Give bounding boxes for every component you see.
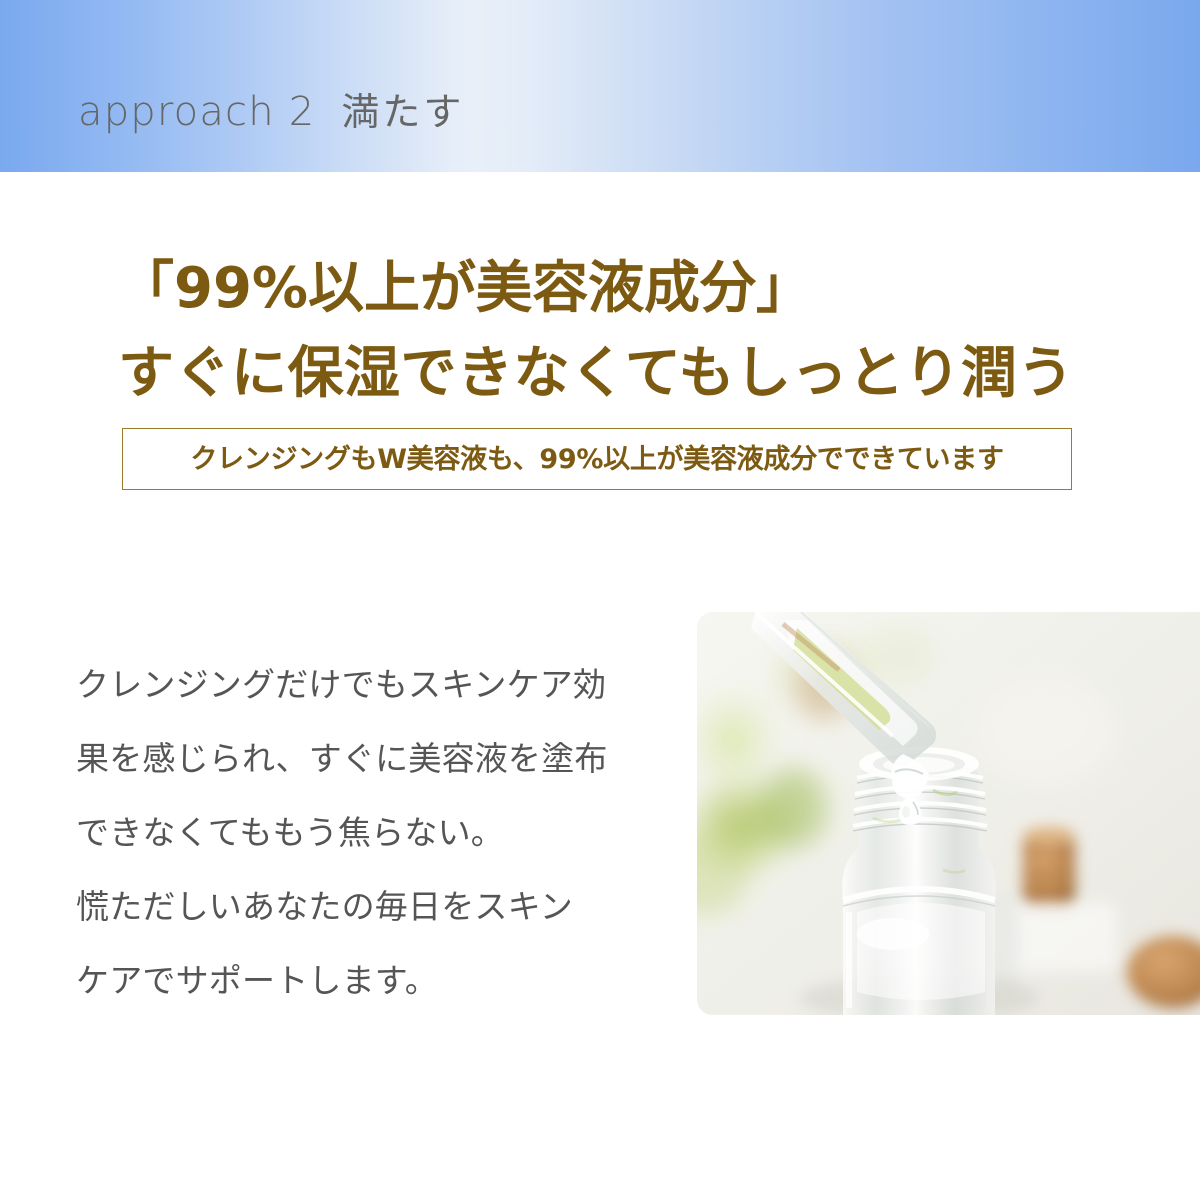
body-copy-line: ケアでサポートします。 <box>76 944 676 1018</box>
page-title-latin: approach 2 <box>78 89 315 135</box>
headline: 「99%以上が美容液成分」 すぐに保湿できなくてもしっとり潤う <box>118 246 1074 416</box>
body-copy: クレンジングだけでもスキンケア効 果を感じられ、すぐに美容液を塗布 できなくても… <box>76 648 676 1018</box>
product-photo-image <box>697 612 1200 1015</box>
body-copy-line: できなくてももう焦らない。 <box>76 796 676 870</box>
headline-line-2: すぐに保湿できなくてもしっとり潤う <box>118 331 1074 416</box>
page-root: approach 2満たす 「99%以上が美容液成分」 すぐに保湿できなくてもし… <box>0 0 1200 1200</box>
subtitle-box: クレンジングもW美容液も、99%以上が美容液成分でできています <box>122 428 1072 490</box>
header-band: approach 2満たす <box>0 0 1200 172</box>
body-copy-line: 慌ただしいあなたの毎日をスキン <box>76 870 676 944</box>
page-title: approach 2満たす <box>78 92 464 132</box>
body-copy-line: 果を感じられ、すぐに美容液を塗布 <box>76 722 676 796</box>
product-photo <box>697 612 1200 1015</box>
subtitle-text: クレンジングもW美容液も、99%以上が美容液成分でできています <box>190 446 1003 473</box>
page-title-jp: 満たす <box>341 90 464 134</box>
headline-line-1: 「99%以上が美容液成分」 <box>118 246 1074 331</box>
body-copy-line: クレンジングだけでもスキンケア効 <box>76 648 676 722</box>
